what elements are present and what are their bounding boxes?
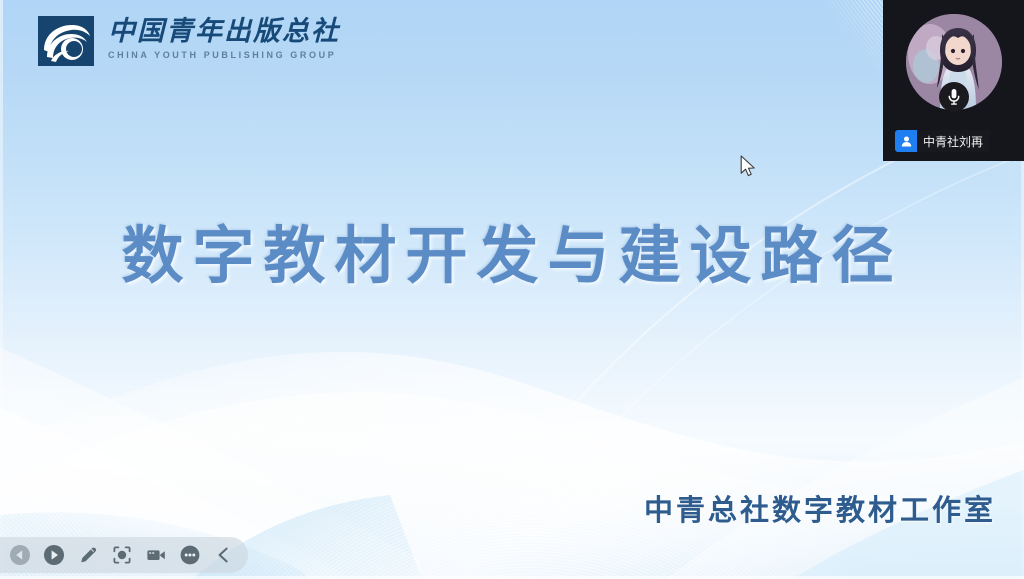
presentation-toolbar [0, 537, 248, 573]
video-participant-tile[interactable]: 中青社刘再 [883, 0, 1024, 161]
publisher-logo: 中国青年出版总社 CHINA YOUTH PUBLISHING GROUP [38, 16, 340, 66]
record-button[interactable] [142, 541, 170, 569]
play-button[interactable] [40, 541, 68, 569]
microphone-icon [939, 82, 969, 112]
collapse-toolbar-button[interactable] [210, 541, 238, 569]
slide-subtitle: 中青总社数字教材工作室 [644, 487, 996, 529]
screenshot-button[interactable] [108, 541, 136, 569]
slide-title: 数字教材开发与建设路径 [0, 205, 1024, 295]
slide-left-edge [0, 0, 3, 579]
person-icon [895, 130, 917, 152]
more-options-button[interactable] [176, 541, 204, 569]
presentation-screen: 中国青年出版总社 CHINA YOUTH PUBLISHING GROUP 数字… [0, 0, 1024, 579]
logo-english-name: CHINA YOUTH PUBLISHING GROUP [108, 50, 340, 60]
participant-name-bar: 中青社刘再 [895, 130, 990, 152]
participant-name: 中青社刘再 [923, 133, 983, 150]
logo-chinese-name: 中国青年出版总社 [108, 16, 340, 47]
wave-lion-logo-icon [38, 16, 94, 66]
previous-slide-button[interactable] [6, 541, 34, 569]
annotate-button[interactable] [74, 541, 102, 569]
